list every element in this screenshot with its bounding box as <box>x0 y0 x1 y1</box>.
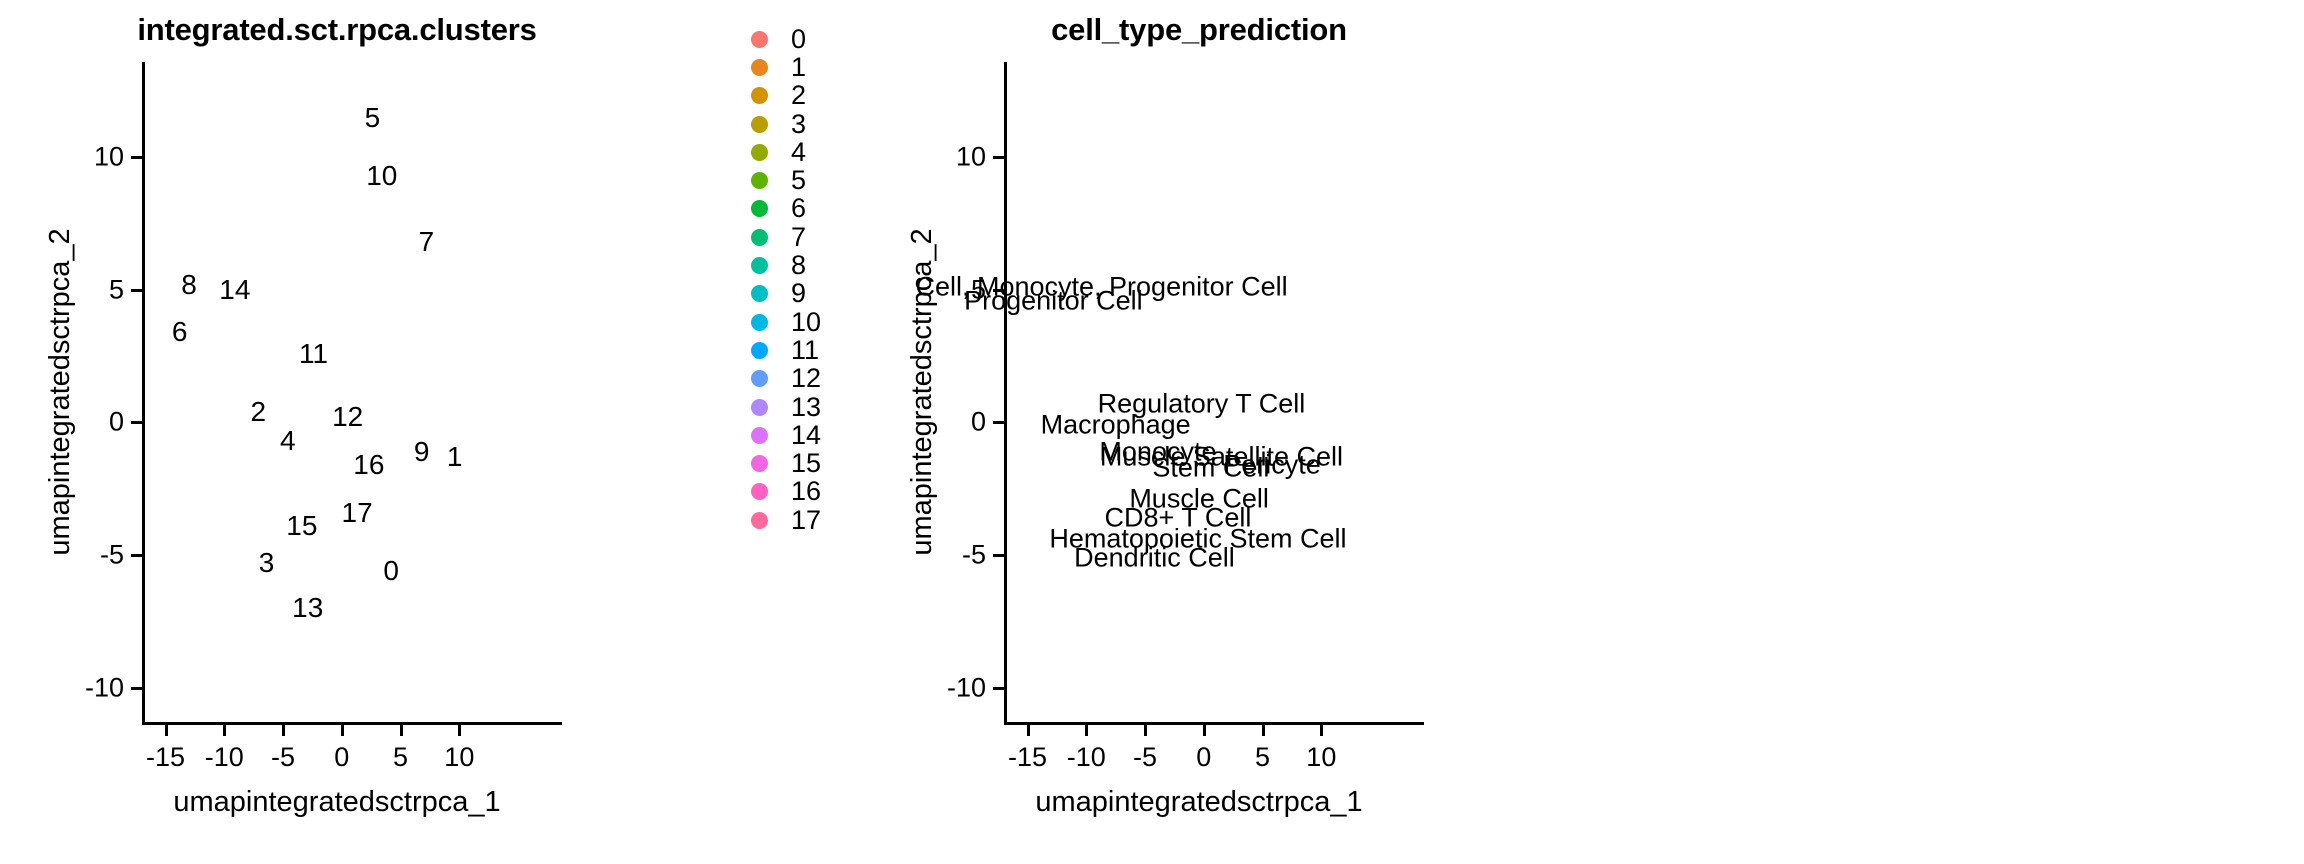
y-tick <box>993 156 1004 159</box>
legend-dot-icon <box>744 257 774 274</box>
y-tick-label: -10 <box>82 672 124 703</box>
x-tick <box>1027 725 1030 736</box>
celltype-text-label: Dendritic Cell <box>1074 542 1235 573</box>
legend-cluster-label: 6 <box>791 195 806 222</box>
legend-cluster-label: 3 <box>791 111 806 138</box>
cluster-number-label: 17 <box>342 497 373 529</box>
y-tick-label: 10 <box>82 142 124 173</box>
legend-cluster-label: 17 <box>791 507 821 534</box>
legend-cluster-label: 9 <box>791 280 806 307</box>
x-tick-label: 0 <box>1196 742 1211 773</box>
x-tick-label: 10 <box>444 742 474 773</box>
legend-cluster-label: 1 <box>791 54 806 81</box>
legend-cluster-item[interactable]: 16 <box>744 478 821 506</box>
cluster-number-label: 4 <box>280 425 296 457</box>
legend-cluster-item[interactable]: 6 <box>744 195 821 223</box>
legend-dot-icon <box>744 59 774 76</box>
legend-cluster-label: 0 <box>791 26 806 53</box>
x-tick-label: -5 <box>271 742 295 773</box>
legend-cluster-item[interactable]: 8 <box>744 251 821 279</box>
legend-cluster-label: 8 <box>791 252 806 279</box>
cluster-number-label: 11 <box>299 338 328 370</box>
x-tick-label: 5 <box>1255 742 1270 773</box>
legend-cluster-label: 11 <box>791 337 819 364</box>
y-tick <box>993 687 1004 690</box>
x-tick <box>458 725 461 736</box>
x-tick <box>1203 725 1206 736</box>
legend-dot-icon <box>744 229 774 246</box>
legend-cluster-item[interactable]: 14 <box>744 421 821 449</box>
legend-cluster-item[interactable]: 9 <box>744 280 821 308</box>
celltype-text-label: Hematopoietic Stem Cell <box>1049 524 1346 555</box>
legend-dot-icon <box>744 370 774 387</box>
legend-cluster-item[interactable]: 3 <box>744 110 821 138</box>
legend-cluster-item[interactable]: 7 <box>744 223 821 251</box>
y-tick <box>993 421 1004 424</box>
y-tick <box>131 554 142 557</box>
x-tick <box>165 725 168 736</box>
x-tick-label: -10 <box>205 742 244 773</box>
legend-cluster-item[interactable]: 17 <box>744 506 821 534</box>
y-tick <box>131 289 142 292</box>
celltype-text-label: Macrophage <box>1041 410 1191 441</box>
legend-cluster-label: 15 <box>791 450 821 477</box>
celltype-text-label: Monocyte <box>1099 436 1216 467</box>
legend-dot-icon <box>744 483 774 500</box>
legend-dot-icon <box>744 200 774 217</box>
y-tick-label: 0 <box>82 407 124 438</box>
x-axis-line <box>142 722 562 725</box>
legend-cluster-label: 5 <box>791 167 806 194</box>
cluster-number-label: 1 <box>447 441 463 473</box>
cluster-number-label: 2 <box>251 396 267 428</box>
cluster-number-label: 9 <box>414 436 430 468</box>
cluster-number-label: 8 <box>181 269 197 301</box>
y-tick <box>993 554 1004 557</box>
y-tick <box>131 687 142 690</box>
legend-cluster-item[interactable]: 12 <box>744 365 821 393</box>
legend-dot-icon <box>744 342 774 359</box>
x-axis-line <box>1004 722 1424 725</box>
x-tick-label: -15 <box>1008 742 1047 773</box>
cluster-number-label: 16 <box>353 449 384 481</box>
x-tick-label: -5 <box>1133 742 1157 773</box>
cluster-number-label: 10 <box>366 160 397 192</box>
y-tick-label: 5 <box>82 274 124 305</box>
legend-cluster-item[interactable]: 11 <box>744 336 821 364</box>
x-tick-label: 5 <box>393 742 408 773</box>
celltype-text-label: Muscle Satellite Cell <box>1100 441 1343 472</box>
legend-cluster-label: 13 <box>791 394 821 421</box>
legend-cluster-item[interactable]: 10 <box>744 308 821 336</box>
celltype-text-label: Pericyte <box>1223 449 1321 480</box>
legend-cluster-label: 16 <box>791 478 821 505</box>
celltype-text-label: Progenitor Cell <box>964 285 1143 316</box>
panel-a-title: integrated.sct.rpca.clusters <box>0 12 674 48</box>
panel-integrated-clusters: integrated.sct.rpca.clusters 1050-5-10-1… <box>0 0 940 864</box>
panel-b-title: cell_type_prediction <box>940 12 1458 48</box>
legend-dot-icon <box>744 427 774 444</box>
y-axis-line <box>1004 62 1007 722</box>
legend-dot-icon <box>744 399 774 416</box>
x-tick <box>341 725 344 736</box>
legend-cluster-label: 10 <box>791 309 821 336</box>
cluster-number-label: 5 <box>365 102 381 134</box>
legend-dot-icon <box>744 31 774 48</box>
y-tick-label: -5 <box>944 540 986 571</box>
cluster-number-label: 6 <box>172 316 188 348</box>
celltype-text-label: Regulatory T Cell <box>1098 388 1306 419</box>
x-tick <box>1144 725 1147 736</box>
celltype-text-label: CD8+ T Cell <box>1105 502 1252 533</box>
y-tick-label: 0 <box>944 407 986 438</box>
cluster-number-label: 15 <box>286 510 317 542</box>
x-tick-label: 10 <box>1306 742 1336 773</box>
x-tick <box>1085 725 1088 736</box>
x-tick <box>223 725 226 736</box>
cluster-number-label: 14 <box>219 274 250 306</box>
cluster-number-label: 12 <box>332 401 363 433</box>
panel-cell-type-prediction: cell_type_prediction 1050-5-10-15-10-505… <box>940 0 2304 864</box>
umap-figure: integrated.sct.rpca.clusters 1050-5-10-1… <box>0 0 2304 864</box>
legend-cluster-label: 4 <box>791 139 806 166</box>
x-tick <box>400 725 403 736</box>
legend-dot-icon <box>744 144 774 161</box>
legend-dot-icon <box>744 116 774 133</box>
legend-dot-icon <box>744 512 774 529</box>
legend-cluster-label: 12 <box>791 365 821 392</box>
x-axis-title-b: umapintegratedsctrpca_1 <box>1035 786 1362 819</box>
x-tick-label: 0 <box>334 742 349 773</box>
y-tick <box>131 156 142 159</box>
legend-dot-icon <box>744 285 774 302</box>
legend-cluster-item[interactable]: 0 <box>744 25 821 53</box>
y-axis-title-a: umapintegratedsctrpca_2 <box>44 228 77 555</box>
legend-cluster-item[interactable]: 5 <box>744 166 821 194</box>
y-tick <box>131 421 142 424</box>
x-tick <box>282 725 285 736</box>
legend-cluster-item[interactable]: 15 <box>744 449 821 477</box>
legend-cluster-item[interactable]: 4 <box>744 138 821 166</box>
y-tick-label: -10 <box>944 672 986 703</box>
legend-cluster-item[interactable]: 2 <box>744 82 821 110</box>
cluster-number-label: 0 <box>383 555 399 587</box>
y-tick-label: 5 <box>944 274 986 305</box>
celltype-text-label: Stem Cell <box>1152 452 1269 483</box>
celltype-text-label: Muscle Cell <box>1129 484 1269 515</box>
legend-cluster-item[interactable]: 1 <box>744 53 821 81</box>
legend-dot-icon <box>744 314 774 331</box>
legend-dot-icon <box>744 172 774 189</box>
legend-cluster-label: 7 <box>791 224 806 251</box>
y-tick <box>993 289 1004 292</box>
y-axis-line <box>142 62 145 722</box>
legend-clusters: 01234567891011121314151617 <box>744 25 821 534</box>
x-tick <box>1320 725 1323 736</box>
cluster-number-label: 13 <box>292 592 323 624</box>
y-tick-label: -5 <box>82 540 124 571</box>
x-axis-title-a: umapintegratedsctrpca_1 <box>173 786 500 819</box>
x-tick-label: -10 <box>1067 742 1106 773</box>
x-tick <box>1262 725 1265 736</box>
legend-cluster-label: 2 <box>791 82 806 109</box>
legend-cluster-label: 14 <box>791 422 821 449</box>
legend-dot-icon <box>744 87 774 104</box>
y-tick-label: 10 <box>944 142 986 173</box>
legend-dot-icon <box>744 455 774 472</box>
cluster-number-label: 3 <box>259 547 275 579</box>
x-tick-label: -15 <box>146 742 185 773</box>
cluster-number-label: 7 <box>419 226 435 258</box>
legend-cluster-item[interactable]: 13 <box>744 393 821 421</box>
y-axis-title-b: umapintegratedsctrpca_2 <box>906 228 939 555</box>
